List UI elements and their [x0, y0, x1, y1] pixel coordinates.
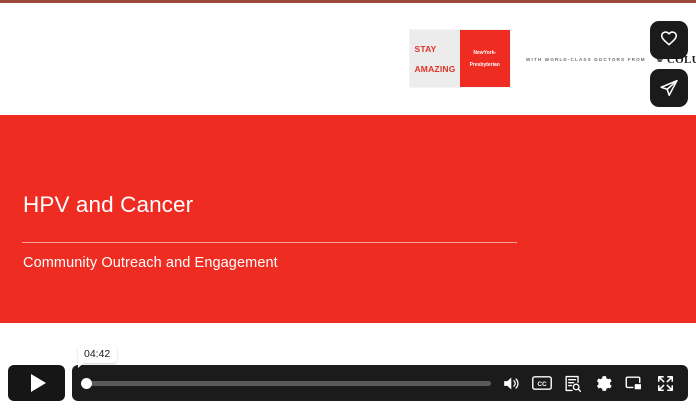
player-controls: 04:42 — [0, 323, 696, 414]
play-button[interactable] — [8, 365, 65, 401]
transcript-button[interactable] — [563, 374, 582, 393]
side-action-buttons — [650, 21, 688, 107]
settings-button[interactable] — [594, 374, 613, 393]
video-player-page: STAYAMAZING NewYork-Presbyterian WITH WO… — [0, 0, 696, 414]
fullscreen-button[interactable] — [656, 374, 675, 393]
gear-icon — [594, 374, 613, 393]
affiliation-tagline: WITH WORLD-CLASS DOCTORS FROM — [526, 57, 646, 62]
stay-amazing-panel: STAYAMAZING — [410, 30, 460, 87]
progress-scrubber[interactable]: 04:42 — [84, 365, 491, 401]
send-icon — [659, 78, 679, 98]
picture-in-picture-icon — [625, 375, 644, 392]
transcript-search-icon — [563, 374, 582, 393]
slide-title: HPV and Cancer — [23, 192, 193, 218]
newyork-presbyterian-logo: STAYAMAZING NewYork-Presbyterian — [410, 30, 510, 87]
branding-header: STAYAMAZING NewYork-Presbyterian WITH WO… — [0, 3, 696, 112]
slide-divider — [22, 242, 517, 243]
stay-amazing-text: STAYAMAZING — [414, 44, 455, 74]
fullscreen-icon — [656, 374, 675, 393]
hospital-name-text: NewYork-Presbyterian — [470, 50, 501, 68]
time-tooltip: 04:42 — [78, 345, 117, 363]
slide-subtitle: Community Outreach and Engagement — [23, 255, 278, 271]
progress-handle[interactable] — [81, 378, 92, 389]
pip-button[interactable] — [625, 374, 644, 393]
hospital-name-panel: NewYork-Presbyterian — [460, 30, 510, 87]
control-icon-group: CC — [501, 374, 688, 393]
progress-track[interactable]: 04:42 — [84, 381, 491, 386]
favorite-button[interactable] — [650, 21, 688, 59]
svg-text:CC: CC — [537, 381, 547, 388]
captions-button[interactable]: CC — [532, 374, 551, 393]
control-bar: 04:42 — [72, 365, 688, 401]
volume-icon — [501, 374, 520, 393]
share-button[interactable] — [650, 69, 688, 107]
play-icon — [31, 374, 46, 392]
volume-button[interactable] — [501, 374, 520, 393]
video-slide: HPV and Cancer Community Outreach and En… — [0, 115, 696, 323]
cc-icon: CC — [532, 375, 552, 391]
heart-icon — [659, 30, 679, 50]
